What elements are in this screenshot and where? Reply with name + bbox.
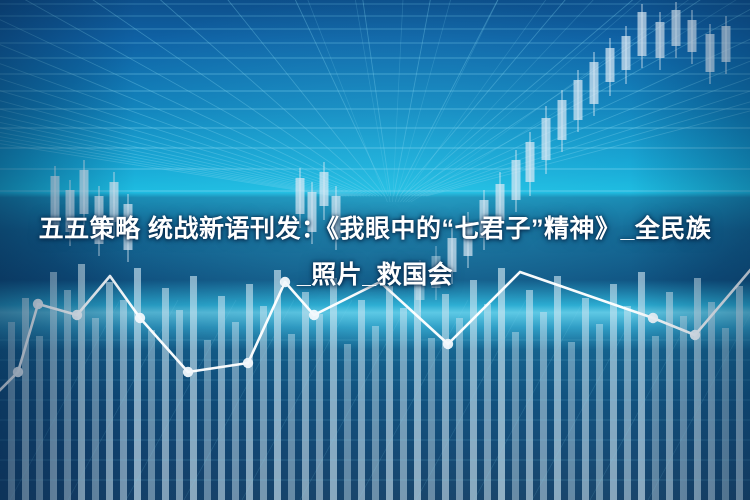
headline-line-1: 五五策略 统战新语刊发：《我眼中的“七君子”精神》_全民族 (8, 206, 742, 252)
hero-image-canvas: 五五策略 统战新语刊发：《我眼中的“七君子”精神》_全民族 _照片_救国会 (0, 0, 750, 500)
headline-line-2: _照片_救国会 (8, 252, 742, 298)
headline-overlay: 五五策略 统战新语刊发：《我眼中的“七君子”精神》_全民族 _照片_救国会 (0, 206, 750, 298)
